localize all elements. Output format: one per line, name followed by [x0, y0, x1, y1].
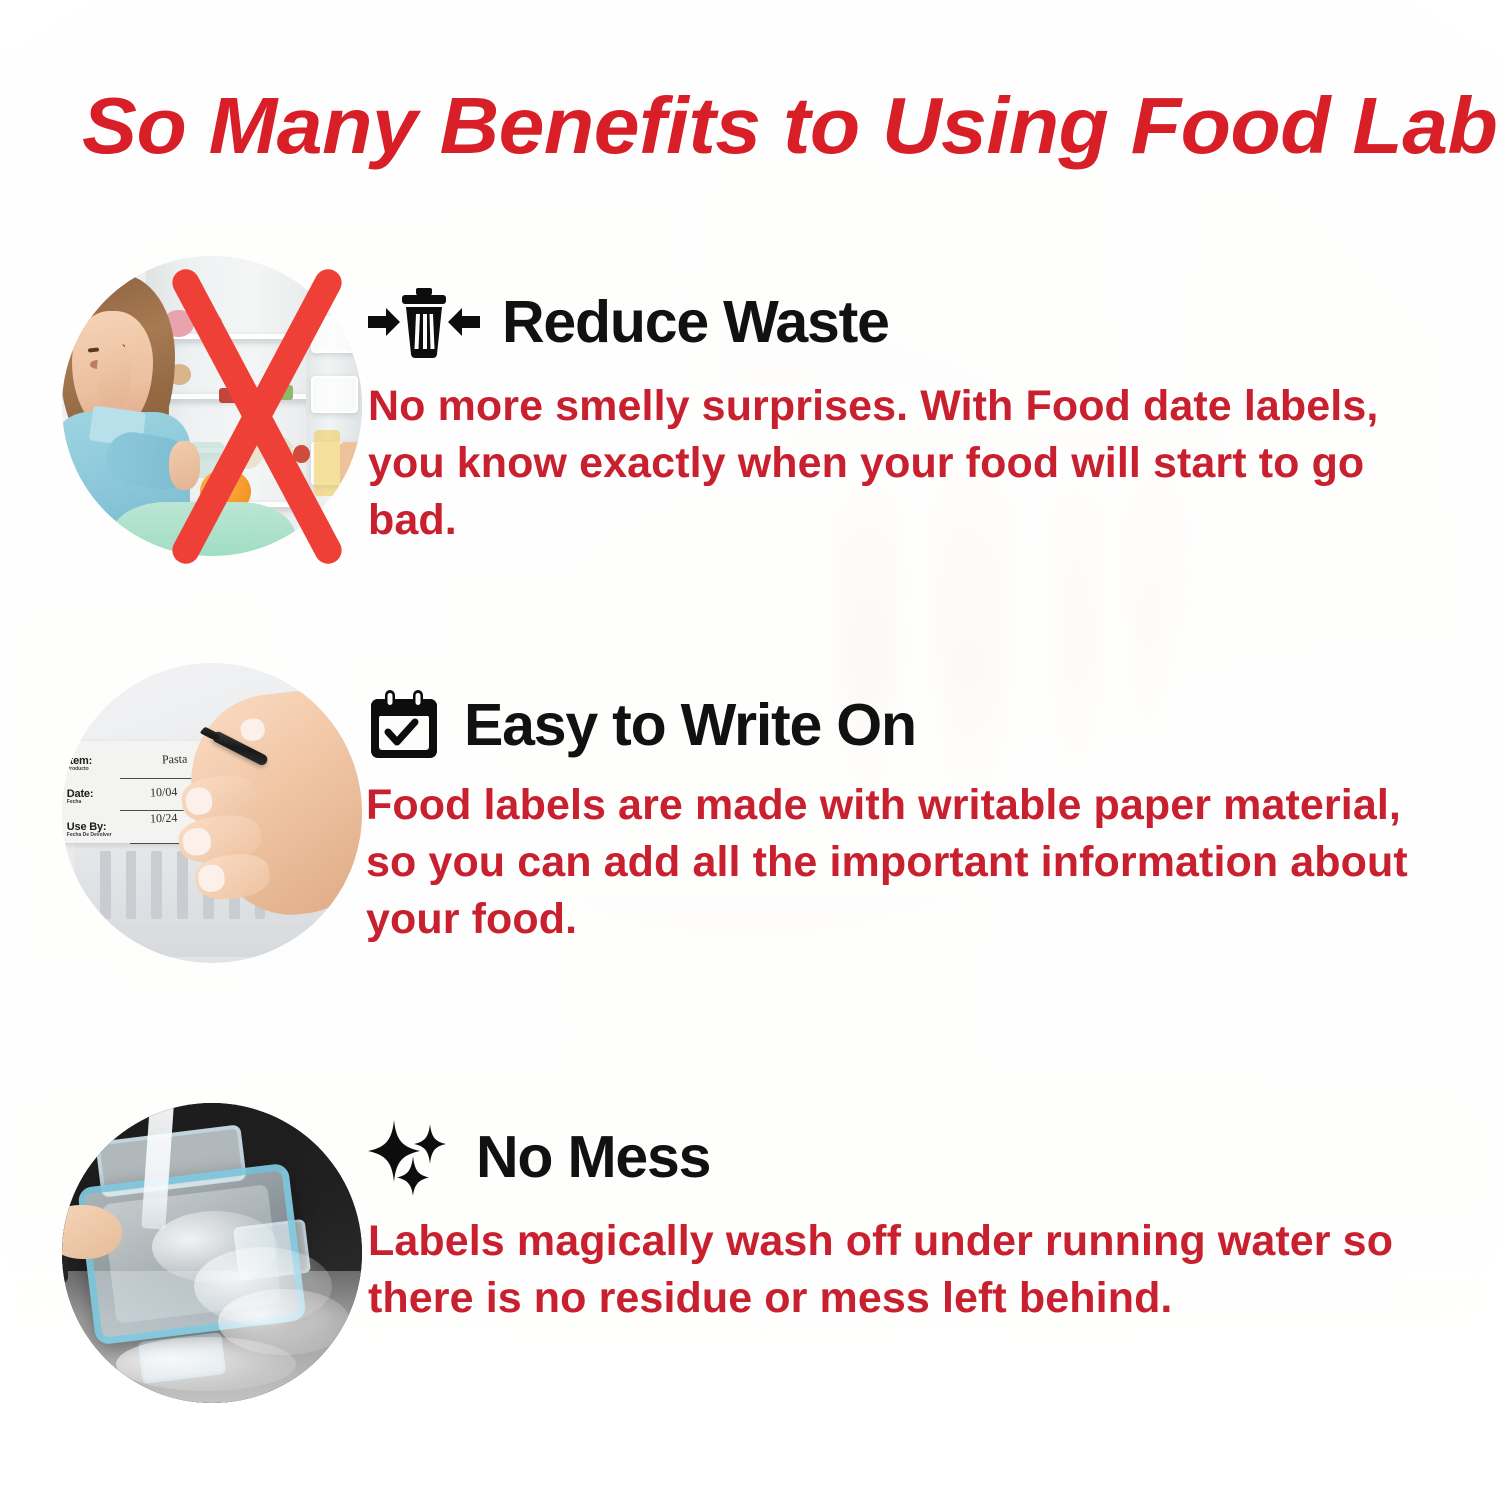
- calendar-check-icon: [366, 687, 442, 763]
- benefit-image-writing-label: Item: Producto Pasta Date: Fecha 10/04: [62, 663, 362, 963]
- benefit-image-washing-container: [62, 1103, 362, 1403]
- benefit-row-easy-to-write-on: Item: Producto Pasta Date: Fecha 10/04: [0, 655, 1500, 985]
- label-field-sub: Producto: [67, 766, 89, 772]
- benefit-body: Food labels are made with writable paper…: [366, 777, 1441, 949]
- water-splash: [116, 1337, 296, 1391]
- label-field-sub: Fecha: [67, 799, 81, 805]
- benefit-heading: Reduce Waste: [502, 293, 889, 352]
- label-field-sub: Fecha De Devolver: [67, 832, 112, 838]
- reduce-waste-trash-icon: [368, 286, 480, 358]
- benefit-row-no-mess: No Mess Labels magically wash off under …: [0, 1095, 1500, 1425]
- page-title: So Many Benefits to Using Food Labels: [82, 86, 1483, 166]
- benefit-heading-line: No Mess: [368, 1109, 1458, 1205]
- benefit-text-easy-to-write-on: Easy to Write On Food labels are made wi…: [366, 677, 1456, 949]
- benefit-image-fridge: [62, 256, 362, 556]
- benefit-heading: Easy to Write On: [464, 696, 916, 755]
- benefit-heading-line: Easy to Write On: [366, 677, 1456, 773]
- benefit-body: Labels magically wash off under running …: [368, 1213, 1408, 1327]
- black-marker: [211, 730, 270, 767]
- benefit-row-reduce-waste: Reduce Waste No more smelly surprises. W…: [0, 248, 1500, 578]
- benefit-body: No more smelly surprises. With Food date…: [368, 378, 1458, 550]
- benefit-heading-line: Reduce Waste: [368, 274, 1458, 370]
- benefit-text-reduce-waste: Reduce Waste No more smelly surprises. W…: [368, 274, 1458, 550]
- infographic-page: So Many Benefits to Using Food Labels: [0, 0, 1500, 1500]
- benefit-heading: No Mess: [476, 1128, 710, 1187]
- benefit-text-no-mess: No Mess Labels magically wash off under …: [368, 1109, 1458, 1327]
- sparkles-icon: [368, 1118, 454, 1196]
